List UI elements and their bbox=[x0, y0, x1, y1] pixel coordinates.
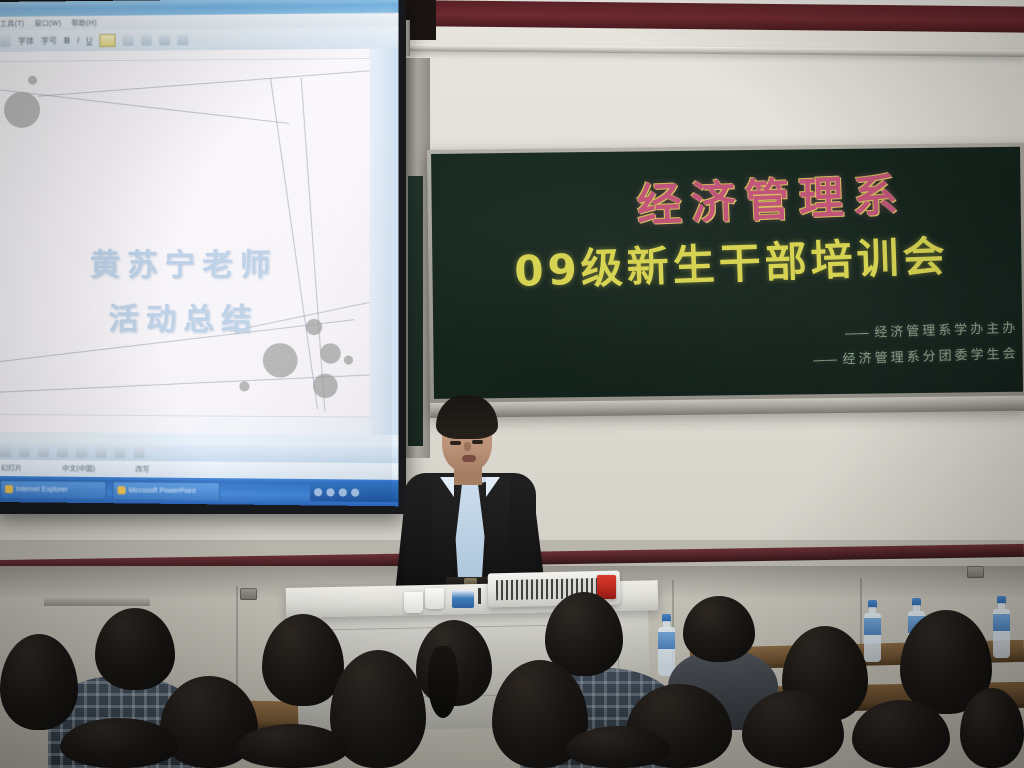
powerpoint-icon bbox=[118, 486, 126, 494]
status-slide-label: 幻灯片 bbox=[1, 463, 22, 473]
audience-head-18 bbox=[566, 726, 670, 768]
water-bottle-4 bbox=[658, 614, 675, 676]
speaker-nose bbox=[464, 442, 471, 451]
speaker-collar-right bbox=[486, 477, 500, 497]
microphone-stem bbox=[478, 588, 481, 604]
bullets-icon[interactable] bbox=[159, 34, 170, 45]
windows-taskbar[interactable]: Internet Explorer Microsoft PowerPoint bbox=[0, 476, 399, 506]
font-size-value[interactable]: 字号 bbox=[41, 35, 57, 46]
status-overwrite: 改写 bbox=[135, 464, 149, 474]
taskbar-label-powerpoint: Microsoft PowerPoint bbox=[129, 487, 196, 495]
speaker-hair bbox=[436, 395, 498, 439]
audience-head-16 bbox=[60, 718, 178, 768]
deco-circle-1 bbox=[4, 92, 40, 128]
tray-icon-2[interactable] bbox=[326, 488, 334, 496]
deco-line-2 bbox=[38, 69, 383, 96]
chalk-dash-2: —— bbox=[812, 353, 836, 369]
audience-ponytail-1 bbox=[428, 646, 458, 718]
menu-item-help[interactable]: 帮助(H) bbox=[71, 18, 96, 28]
slide-subtitle: 活动总结 bbox=[0, 294, 372, 339]
slide-title: 黄苏宁老师 bbox=[0, 240, 372, 285]
fill-color-icon[interactable] bbox=[115, 447, 126, 458]
font-box-icon[interactable] bbox=[0, 36, 11, 47]
arrow-tool-icon[interactable] bbox=[19, 446, 30, 457]
audience-head-17 bbox=[236, 724, 348, 768]
system-tray[interactable] bbox=[310, 483, 399, 502]
slide-canvas: 黄苏宁老师 活动总结 bbox=[0, 49, 399, 436]
slide-content-area: 黄苏宁老师 活动总结 bbox=[0, 59, 372, 417]
lecture-hall-photo: 经济管理系 09级新生干部培训会 ——经济管理系学办主办 ——经济管理系分团委学… bbox=[0, 0, 1024, 768]
paper-cup-2 bbox=[404, 592, 423, 613]
blue-box-item bbox=[452, 590, 474, 608]
font-color-icon[interactable] bbox=[122, 35, 133, 46]
deco-circle-3 bbox=[263, 343, 298, 378]
speaker-eye-right bbox=[472, 440, 483, 444]
chalk-heading-event: 09级新生干部培训会 bbox=[445, 220, 1017, 301]
font-name-value[interactable]: 字体 bbox=[18, 36, 34, 47]
textbox-tool-icon[interactable] bbox=[76, 447, 87, 458]
line-color-icon[interactable] bbox=[134, 447, 145, 458]
wall-outlet-3 bbox=[240, 588, 257, 600]
taskbar-label-ie: Internet Explorer bbox=[16, 486, 68, 494]
slide-side-band bbox=[370, 49, 399, 436]
rectangle-tool-icon[interactable] bbox=[38, 446, 49, 457]
chalk-dash-1: —— bbox=[844, 326, 868, 342]
blackboard-surface: 经济管理系 09级新生干部培训会 ——经济管理系学办主办 ——经济管理系分团委学… bbox=[431, 147, 1023, 399]
wall-seam-1 bbox=[236, 586, 238, 696]
paper-cup-1 bbox=[425, 588, 444, 609]
deco-circle-8 bbox=[344, 356, 353, 365]
ie-icon bbox=[5, 485, 13, 493]
projection-screen-surface: 工具(T) 窗口(W) 帮助(H) 字体 字号 B I U bbox=[0, 0, 399, 506]
water-bottle-1 bbox=[864, 600, 881, 662]
deco-circle-5 bbox=[320, 343, 341, 363]
projection-screen-frame: 工具(T) 窗口(W) 帮助(H) 字体 字号 B I U bbox=[0, 0, 406, 514]
deco-circle-7 bbox=[239, 381, 249, 391]
taskbar-item-powerpoint[interactable]: Microsoft PowerPoint bbox=[112, 481, 219, 501]
chalk-credit-1: ——经济管理系学办主办 bbox=[844, 317, 1019, 342]
speaker-mouth bbox=[462, 455, 476, 462]
bottle-label bbox=[993, 614, 1010, 631]
italic-button[interactable]: I bbox=[77, 36, 79, 45]
wall-outlet-2 bbox=[967, 566, 984, 578]
ellipse-tool-icon[interactable] bbox=[57, 447, 68, 458]
highlight-icon[interactable] bbox=[99, 34, 115, 47]
menu-item-tools[interactable]: 工具(T) bbox=[0, 19, 24, 29]
undo-icon[interactable] bbox=[177, 34, 188, 45]
status-language: 中文(中国) bbox=[62, 464, 95, 474]
line-tool-icon[interactable] bbox=[0, 446, 11, 457]
deco-circle-2 bbox=[28, 76, 37, 85]
water-bottle-3 bbox=[993, 596, 1010, 658]
tray-icon-1[interactable] bbox=[314, 488, 322, 496]
deco-circle-6 bbox=[313, 374, 338, 398]
podium-paper-slot bbox=[44, 598, 150, 606]
menu-item-window[interactable]: 窗口(W) bbox=[34, 18, 61, 28]
underline-button[interactable]: U bbox=[86, 36, 92, 45]
tray-icon-3[interactable] bbox=[339, 488, 347, 496]
speaker-eye-left bbox=[450, 441, 461, 445]
chalk-credit-text-2: 经济管理系分团委学生会 bbox=[842, 347, 1018, 368]
blackboard: 经济管理系 09级新生干部培训会 ——经济管理系学办主办 ——经济管理系分团委学… bbox=[427, 143, 1024, 418]
bottle-label bbox=[864, 618, 881, 635]
chalk-credit-2: ——经济管理系分团委学生会 bbox=[812, 343, 1019, 369]
tray-icon-4[interactable] bbox=[351, 489, 359, 497]
wordart-tool-icon[interactable] bbox=[95, 447, 106, 458]
align-icon[interactable] bbox=[141, 35, 152, 46]
bold-button[interactable]: B bbox=[64, 36, 70, 45]
speaker-collar-left bbox=[440, 477, 454, 497]
deco-line-1 bbox=[0, 88, 289, 124]
bottle-label bbox=[658, 632, 675, 649]
taskbar-item-ie[interactable]: Internet Explorer bbox=[0, 480, 106, 500]
chalk-credit-text-1: 经济管理系学办主办 bbox=[874, 321, 1018, 341]
